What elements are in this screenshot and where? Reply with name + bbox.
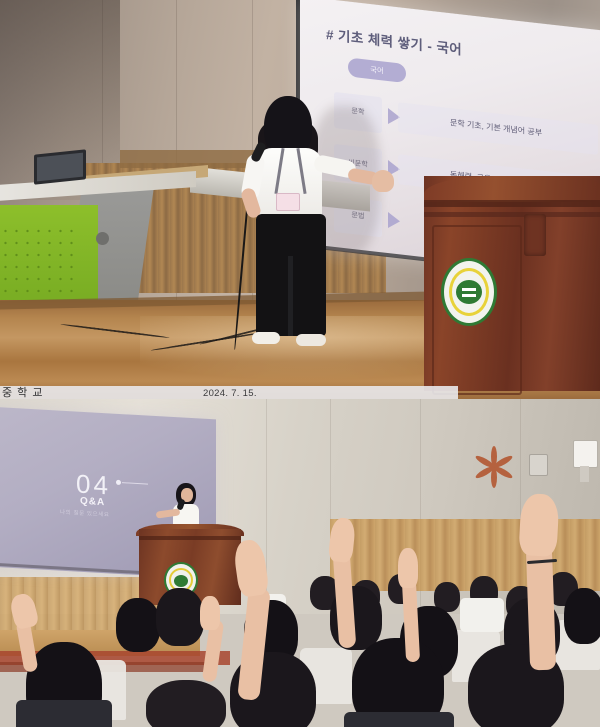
wall-unit-bracket — [580, 466, 589, 482]
audience-head — [156, 588, 204, 646]
screenshot-root: # 기초 체력 쌓기 - 국어 국어 문학 문학 기초, 기본 개념어 공부 비… — [0, 0, 600, 727]
slide-row-value-label: 문학 기초, 기본 개념어 공부 — [398, 102, 598, 155]
raised-hand — [518, 493, 559, 557]
podium-post — [524, 214, 546, 256]
slide-dot-marker — [116, 480, 121, 485]
console-knob — [96, 232, 109, 245]
trouser-split — [288, 256, 293, 336]
school-emblem — [441, 258, 497, 326]
audience-shirt — [460, 598, 504, 632]
podium-moulding — [424, 212, 600, 217]
slide-subject-pill: 국어 — [348, 57, 406, 83]
presenter-figure — [236, 96, 366, 361]
caption-date: 2024. 7. 15. — [203, 387, 257, 399]
podium-top — [424, 176, 600, 202]
raised-hand — [200, 596, 220, 630]
left-shoe — [252, 332, 280, 344]
right-shoe — [296, 334, 326, 346]
audience-head — [116, 598, 160, 652]
podium-moulding — [424, 200, 600, 207]
audience-uniform — [16, 700, 112, 727]
right-hand — [372, 170, 394, 192]
raised-arm — [526, 546, 556, 671]
flower-motif-icon — [471, 442, 517, 494]
podium-moulding-lower — [139, 536, 241, 540]
wall-speaker — [529, 454, 548, 476]
name-badge — [276, 193, 300, 211]
audience-head-foreground — [146, 680, 226, 727]
slide-title: # 기초 체력 쌓기 - 국어 — [326, 23, 462, 59]
caption-school-name: 중 학 교 — [2, 386, 43, 399]
arrow-right-icon — [388, 212, 400, 229]
slide-rule-line — [122, 482, 148, 484]
photo-top-presenter: # 기초 체력 쌓기 - 국어 국어 문학 문학 기초, 기본 개념어 공부 비… — [0, 0, 600, 399]
slide-section-title: Q&A — [80, 496, 105, 508]
slide-section-subtitle: 나의 질문 있으세요 — [60, 508, 110, 519]
slide-subject-pill-label: 국어 — [348, 57, 406, 83]
wall-mounted-unit — [573, 440, 598, 468]
raised-hand — [398, 548, 418, 588]
audience-uniform — [344, 712, 454, 727]
laptop — [34, 149, 86, 184]
slide-row-value: 문학 기초, 기본 개념어 공부 — [398, 102, 598, 155]
audience-head — [564, 588, 600, 644]
